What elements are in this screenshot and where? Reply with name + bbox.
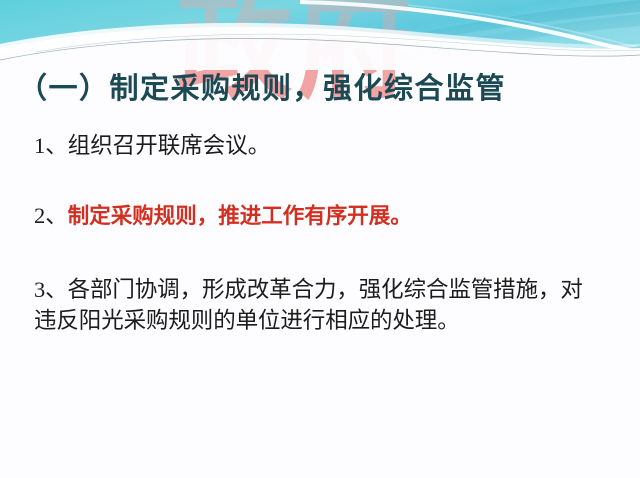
list-item-text-line-2: 违反阳光采购规则的单位进行相应的处理。 bbox=[34, 305, 628, 336]
slide-body-list: 1、组织召开联席会议。 2、制定采购规则，推进工作有序开展。 3、各部门协调，形… bbox=[34, 130, 628, 336]
list-item-text: 组织召开联席会议。 bbox=[68, 133, 271, 158]
list-item: 3、各部门协调，形成改革合力，强化综合监管措施，对 违反阳光采购规则的单位进行相… bbox=[34, 274, 628, 336]
header-wave-graphic bbox=[0, 0, 640, 70]
presentation-slide: 政府 （一）制定采购规则，强化综合监管 bbox=[0, 0, 640, 478]
list-item: 1、组织召开联席会议。 bbox=[34, 130, 628, 161]
page-title: （一）制定采购规则，强化综合监管 bbox=[18, 66, 630, 110]
list-item-text: 各部门协调，形成改革合力，强化综合监管措施，对 bbox=[68, 277, 583, 302]
list-item-marker: 2、 bbox=[34, 203, 68, 228]
header-decoration-band bbox=[0, 0, 640, 70]
list-item-marker: 1、 bbox=[34, 133, 68, 158]
list-item-text-emphasis: 制定采购规则，推进工作有序开展。 bbox=[68, 204, 412, 229]
list-item-marker: 3、 bbox=[34, 277, 68, 302]
list-item-text-line-1: 3、各部门协调，形成改革合力，强化综合监管措施，对 bbox=[34, 274, 628, 305]
list-item: 2、制定采购规则，推进工作有序开展。 bbox=[34, 200, 628, 232]
